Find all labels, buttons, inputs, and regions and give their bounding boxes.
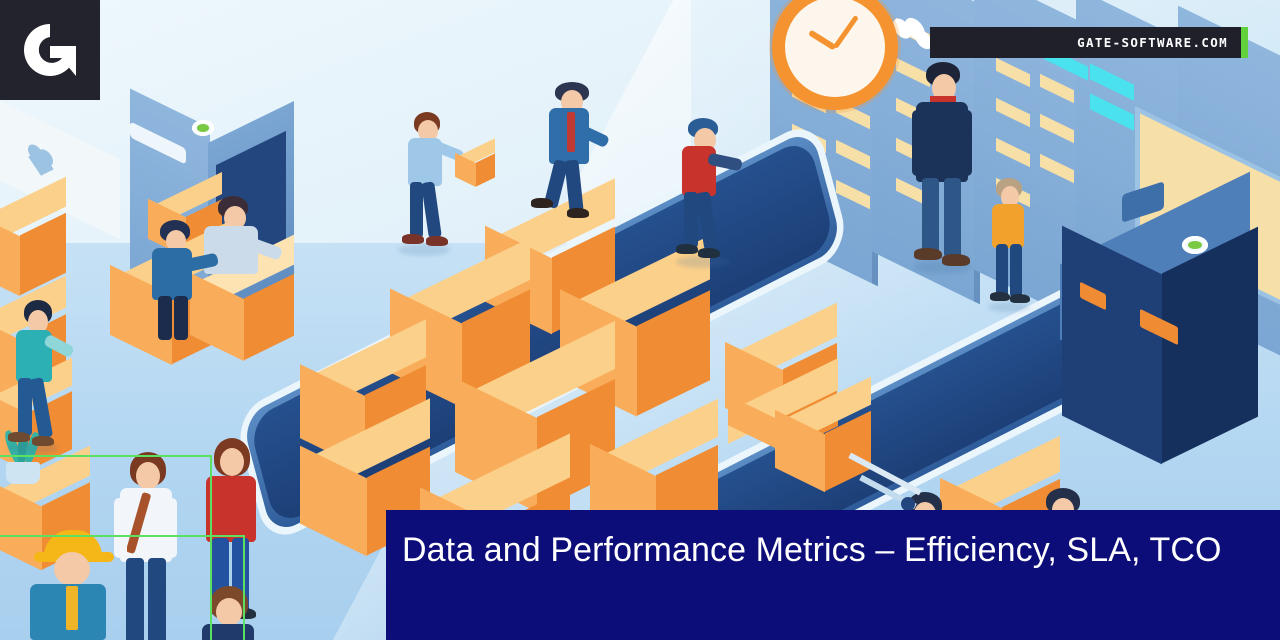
worker-figure xyxy=(146,220,220,340)
clock-hand-hour xyxy=(808,30,837,51)
watermark-accent-bar xyxy=(1241,27,1248,58)
carton-box xyxy=(0,200,66,286)
clock-hand-minute xyxy=(833,15,859,49)
barcode-scanner xyxy=(192,120,214,136)
worker-figure xyxy=(8,300,78,450)
barcode-scanner xyxy=(1182,236,1208,254)
worker-figure xyxy=(535,82,605,222)
hand-trolley xyxy=(845,455,935,515)
watermark-text: GATE-SOFTWARE.COM xyxy=(1077,35,1248,50)
slide-title-text: Data and Performance Metrics – Efficienc… xyxy=(402,528,1254,573)
slide-title-bar: Data and Performance Metrics – Efficienc… xyxy=(386,510,1280,640)
brand-logo-badge[interactable] xyxy=(0,0,100,100)
worker-figure xyxy=(398,112,458,252)
customer-figure xyxy=(908,62,982,272)
customer-figure xyxy=(986,178,1040,310)
screenshot-canvas: GATE-SOFTWARE.COM Data and Performance M… xyxy=(0,0,1280,640)
watermark-bar: GATE-SOFTWARE.COM xyxy=(930,27,1248,58)
letter-g-logo-icon xyxy=(20,20,80,80)
worker-figure xyxy=(672,118,742,263)
detection-box-2[interactable] xyxy=(0,535,245,640)
carton-box-small xyxy=(455,148,495,182)
